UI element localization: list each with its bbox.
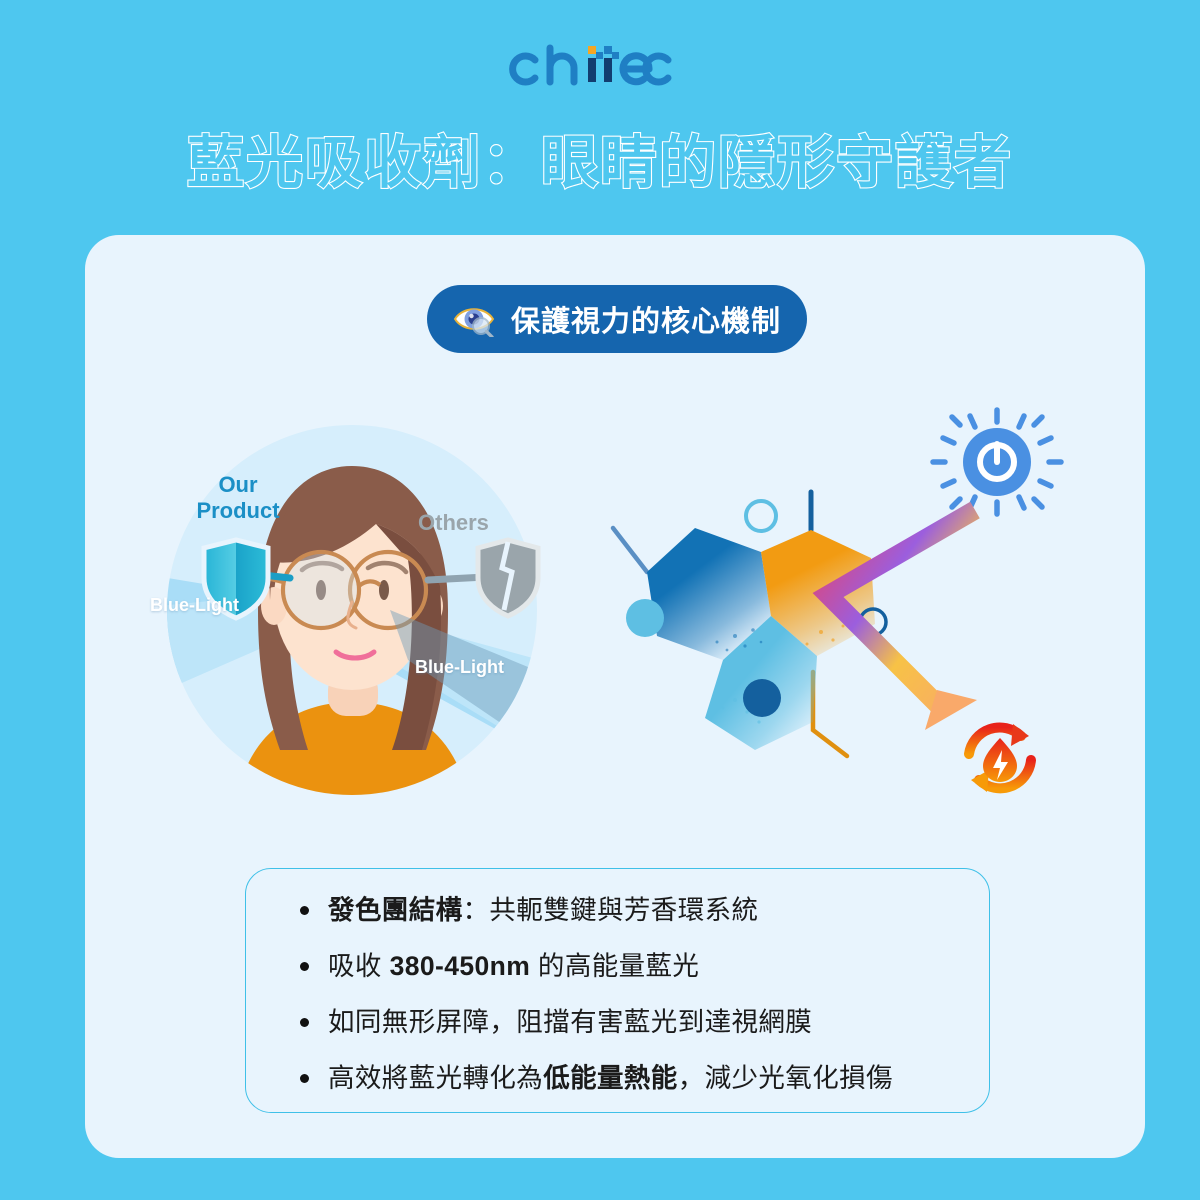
bullet-4-strong: 低能量熱能 <box>543 1063 678 1093</box>
brand-logo <box>0 34 1200 94</box>
molecule-illustration <box>585 400 1105 810</box>
list-item: 發色團結構：共軛雙鍵與芳香環系統 <box>298 895 959 925</box>
section-badge-label: 保護視力的核心機制 <box>511 298 781 340</box>
list-item: 如同無形屏障，阻擋有害藍光到達視網膜 <box>298 1007 959 1037</box>
bullet-4-rest: ，減少光氧化損傷 <box>678 1063 893 1093</box>
list-item: 高效將藍光轉化為低能量熱能，減少光氧化損傷 <box>298 1063 959 1093</box>
chitec-logo-mark <box>505 38 695 90</box>
list-item: 吸收 380-450nm 的高能量藍光 <box>298 951 959 981</box>
illustration-row: Our Product Others Blue-Light Blue-Light <box>85 410 1145 820</box>
heat-recycle-icon <box>969 724 1031 792</box>
shield-broken-icon <box>478 540 538 616</box>
bullet-2-strong: 380-450nm <box>390 951 531 981</box>
woman-blue-light-illustration: Our Product Others Blue-Light Blue-Light <box>140 410 565 810</box>
bullet-3-text: 如同無形屏障，阻擋有害藍光到達視網膜 <box>328 1007 812 1037</box>
key-points-box: 發色團結構：共軛雙鍵與芳香環系統 吸收 380-450nm 的高能量藍光 如同無… <box>245 868 990 1113</box>
shield-protected-icon <box>204 540 268 618</box>
sun-power-icon <box>933 410 1061 514</box>
page-title: 藍光吸收劑：眼睛的隱形守護者 <box>0 126 1200 200</box>
bullet-1-rest: ：共軛雙鍵與芳香環系統 <box>463 895 759 925</box>
content-card: 保護視力的核心機制 <box>85 235 1145 1158</box>
bullet-2-prefix: 吸收 <box>328 951 390 981</box>
bullet-2-rest: 的高能量藍光 <box>530 951 699 981</box>
bullet-4-prefix: 高效將藍光轉化為 <box>328 1063 543 1093</box>
key-points-list: 發色團結構：共軛雙鍵與芳香環系統 吸收 380-450nm 的高能量藍光 如同無… <box>298 895 959 1093</box>
bullet-1-strong: 發色團結構 <box>328 895 463 925</box>
eye-magnifier-icon <box>453 301 497 337</box>
energy-conversion-arrow <box>828 510 977 730</box>
section-badge: 保護視力的核心機制 <box>427 285 807 353</box>
